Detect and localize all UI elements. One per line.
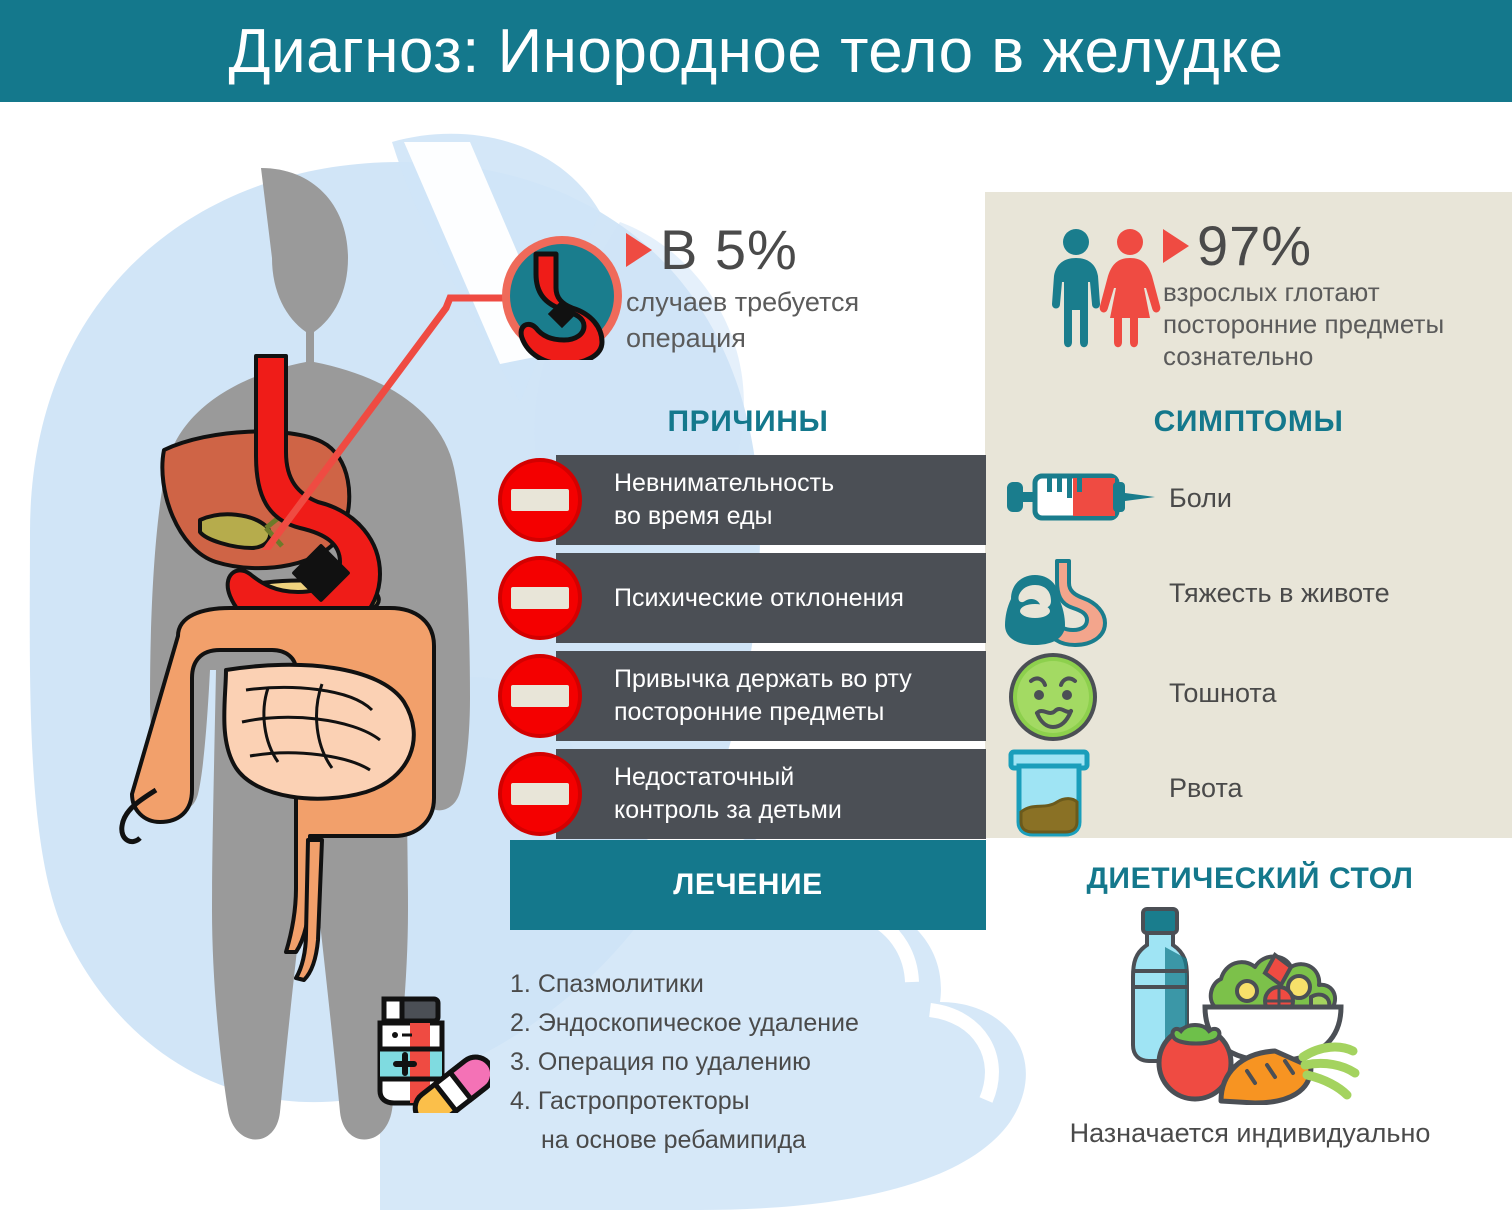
symptom-row-pain: Боли xyxy=(1005,450,1505,546)
symptom-label-vomiting: Рвота xyxy=(1169,773,1243,804)
cause-text-3: Привычка держать во рту посторонние пред… xyxy=(614,663,912,729)
cause-row-1[interactable]: Невнимательность во время еды xyxy=(498,455,988,545)
cause-row-4[interactable]: Недостаточный контроль за детьми xyxy=(498,749,988,839)
symptom-label-heaviness: Тяжесть в животе xyxy=(1169,578,1390,609)
diet-food-svg xyxy=(1125,905,1375,1105)
cause-bar-4: Недостаточный контроль за детьми xyxy=(556,749,986,839)
treatment-item-4-cont: на основе ребамипида xyxy=(510,1121,980,1160)
no-entry-icon xyxy=(498,556,582,640)
cause-text-4: Недостаточный контроль за детьми xyxy=(614,761,842,827)
pills-svg xyxy=(360,995,490,1113)
header-bar: Диагноз: Инородное тело в желудке xyxy=(0,0,1512,102)
cause-row-3[interactable]: Привычка держать во рту посторонние пред… xyxy=(498,651,988,741)
symptom-row-nausea: Тошнота xyxy=(1005,645,1505,741)
stat-adults-line1: взрослых глотают xyxy=(1163,276,1503,308)
treatment-heading: ЛЕЧЕНИЕ xyxy=(673,868,823,902)
stat-surgery-value: В 5% xyxy=(660,222,798,278)
stat-adults-line2: посторонние предметы xyxy=(1163,308,1503,340)
man-woman-icon xyxy=(1050,226,1162,351)
cause-bar-1: Невнимательность во время еды xyxy=(556,455,986,545)
symptom-row-heaviness: Тяжесть в животе xyxy=(1005,545,1505,641)
symptom-label-pain: Боли xyxy=(1169,483,1232,514)
stat-surgery-text: В 5% случаев требуется операция xyxy=(626,222,966,356)
treatment-item-4: 4. Гастропротекторы xyxy=(510,1082,980,1121)
cause-bar-3: Привычка держать во рту посторонние пред… xyxy=(556,651,986,741)
diet-heading: ДИЕТИЧЕСКИЙ СТОЛ xyxy=(1000,862,1500,896)
syringe-icon xyxy=(1005,454,1109,542)
vomit-bucket-svg xyxy=(1005,744,1101,840)
nauseated-face-icon xyxy=(1005,649,1109,737)
stat-adults-value-row: 97% xyxy=(1163,218,1503,274)
triangle-bullet-icon xyxy=(1163,229,1189,263)
man-icon xyxy=(1052,229,1100,347)
cause-text-2: Психические отклонения xyxy=(614,582,904,615)
kettlebell-stomach-svg xyxy=(1005,549,1115,649)
vegetables-water-bowl-icon xyxy=(1125,905,1375,1105)
symptom-row-vomiting: Рвота xyxy=(1005,740,1505,836)
stomach-foreign-body-icon xyxy=(498,232,626,360)
stat-adults: 97% взрослых глотают посторонние предмет… xyxy=(1163,218,1503,372)
symptom-label-nausea: Тошнота xyxy=(1169,678,1276,709)
stat-surgery: В 5% случаев требуется операция xyxy=(498,222,968,382)
cause-bar-2: Психические отклонения xyxy=(556,553,986,643)
medicine-bottle-pills-icon xyxy=(360,995,490,1113)
vomit-bucket-icon xyxy=(1005,744,1109,832)
page-title: Диагноз: Инородное тело в желудке xyxy=(229,16,1284,87)
cause-text-1: Невнимательность во время еды xyxy=(614,467,834,533)
no-entry-icon xyxy=(498,458,582,542)
kettlebell-stomach-icon xyxy=(1005,549,1109,637)
stat-surgery-value-row: В 5% xyxy=(626,222,966,278)
infographic-root: Диагноз: Инородное тело в желудке xyxy=(0,0,1512,1210)
treatment-list: 1. Спазмолитики 2. Эндоскопическое удале… xyxy=(510,965,980,1160)
cause-row-2[interactable]: Психические отклонения xyxy=(498,553,988,643)
treatment-item-1: 1. Спазмолитики xyxy=(510,965,980,1004)
stat-adults-line3: сознательно xyxy=(1163,340,1503,372)
stat-adults-value: 97% xyxy=(1197,218,1312,274)
treatment-item-3: 3. Операция по удалению xyxy=(510,1043,980,1082)
man-woman-svg xyxy=(1050,226,1162,351)
symptoms-heading: СИМПТОМЫ xyxy=(985,405,1512,439)
stomach-circle-svg xyxy=(498,232,626,360)
stat-surgery-description: случаев требуется операция xyxy=(626,284,966,356)
no-entry-icon xyxy=(498,654,582,738)
no-entry-icon xyxy=(498,752,582,836)
diet-note: Назначается индивидуально xyxy=(1000,1118,1500,1149)
syringe-svg xyxy=(1005,454,1155,542)
treatment-item-2: 2. Эндоскопическое удаление xyxy=(510,1004,980,1043)
triangle-bullet-icon xyxy=(626,233,652,267)
woman-icon xyxy=(1100,229,1161,347)
causes-heading: ПРИЧИНЫ xyxy=(510,405,986,439)
nauseated-face-svg xyxy=(1005,649,1101,745)
treatment-header: ЛЕЧЕНИЕ xyxy=(510,840,986,930)
